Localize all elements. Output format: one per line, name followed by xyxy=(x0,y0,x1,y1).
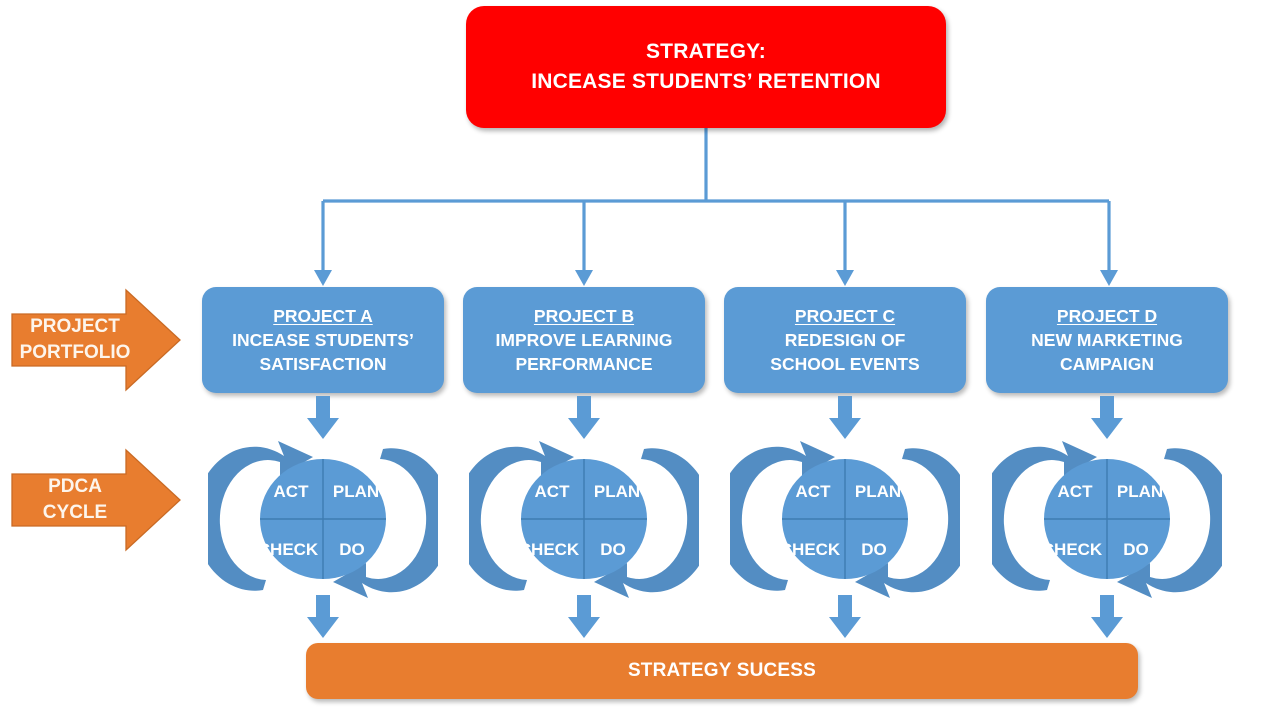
pdca-d-plan: PLAN xyxy=(1117,482,1163,501)
project-c-description: REDESIGN OF SCHOOL EVENTS xyxy=(770,328,919,376)
strategy-success-label: STRATEGY SUCESS xyxy=(628,660,816,682)
project-box-b[interactable]: PROJECT B IMPROVE LEARNING PERFORMANCE xyxy=(463,287,705,393)
project-box-c[interactable]: PROJECT C REDESIGN OF SCHOOL EVENTS xyxy=(724,287,966,393)
project-a-description: INCEASE STUDENTS’ SATISFACTION xyxy=(232,328,414,376)
diagram-canvas: STRATEGY: INCEASE STUDENTS’ RETENTION PR… xyxy=(0,0,1280,720)
project-d-title: PROJECT D xyxy=(1057,304,1157,328)
down-block-arrow-icon xyxy=(1090,595,1124,639)
pdca-a-plan: PLAN xyxy=(333,482,379,501)
block-arrow-down-a-bottom xyxy=(306,595,340,639)
pdca-wheel-d[interactable]: ACT PLAN CHECK DO xyxy=(992,432,1222,607)
down-block-arrow-icon xyxy=(306,595,340,639)
pdca-c-act: ACT xyxy=(796,482,832,501)
pdca-a-check: CHECK xyxy=(258,540,319,559)
side-label-project-portfolio: PROJECT PORTFOLIO xyxy=(6,288,184,392)
pdca-b-check: CHECK xyxy=(519,540,580,559)
project-b-description: IMPROVE LEARNING PERFORMANCE xyxy=(496,328,673,376)
project-b-title: PROJECT B xyxy=(534,304,634,328)
strategy-box[interactable]: STRATEGY: INCEASE STUDENTS’ RETENTION xyxy=(466,6,946,128)
pdca-c-check: CHECK xyxy=(780,540,841,559)
pdca-wheel-a[interactable]: ACT PLAN CHECK DO xyxy=(208,432,438,607)
strategy-success-bar[interactable]: STRATEGY SUCESS xyxy=(306,643,1138,699)
side-label-pdca-cycle-text: PDCA CYCLE xyxy=(14,448,136,552)
strategy-line-1: STRATEGY: xyxy=(531,37,881,67)
block-arrow-down-d-bottom xyxy=(1090,595,1124,639)
block-arrow-down-c-bottom xyxy=(828,595,862,639)
pdca-d-check: CHECK xyxy=(1042,540,1103,559)
down-block-arrow-icon xyxy=(567,595,601,639)
pdca-d-act: ACT xyxy=(1058,482,1094,501)
pdca-c-plan: PLAN xyxy=(855,482,901,501)
pdca-b-plan: PLAN xyxy=(594,482,640,501)
project-a-title: PROJECT A xyxy=(273,304,373,328)
project-box-d[interactable]: PROJECT D NEW MARKETING CAMPAIGN xyxy=(986,287,1228,393)
side-label-project-portfolio-text: PROJECT PORTFOLIO xyxy=(14,288,136,392)
side-label-pdca-cycle: PDCA CYCLE xyxy=(6,448,184,552)
pdca-b-act: ACT xyxy=(535,482,571,501)
pdca-d-do: DO xyxy=(1123,540,1149,559)
pdca-wheel-b[interactable]: ACT PLAN CHECK DO xyxy=(469,432,699,607)
pdca-wheel-c[interactable]: ACT PLAN CHECK DO xyxy=(730,432,960,607)
pdca-a-do: DO xyxy=(339,540,365,559)
project-c-title: PROJECT C xyxy=(795,304,895,328)
down-block-arrow-icon xyxy=(828,595,862,639)
strategy-text: STRATEGY: INCEASE STUDENTS’ RETENTION xyxy=(531,37,881,97)
block-arrow-down-b-bottom xyxy=(567,595,601,639)
strategy-line-2: INCEASE STUDENTS’ RETENTION xyxy=(531,67,881,97)
pdca-c-do: DO xyxy=(861,540,887,559)
project-box-a[interactable]: PROJECT A INCEASE STUDENTS’ SATISFACTION xyxy=(202,287,444,393)
project-d-description: NEW MARKETING CAMPAIGN xyxy=(1031,328,1183,376)
pdca-a-act: ACT xyxy=(274,482,310,501)
pdca-b-do: DO xyxy=(600,540,626,559)
